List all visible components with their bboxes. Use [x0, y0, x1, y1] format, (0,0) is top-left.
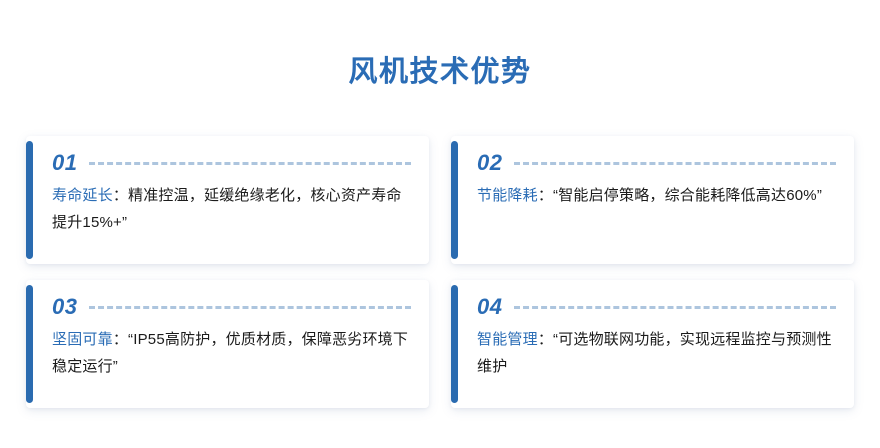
- card-header: 03: [52, 294, 413, 320]
- dashed-divider-icon: [89, 306, 411, 309]
- card-number: 03: [52, 294, 77, 320]
- card-number: 01: [52, 150, 77, 176]
- card-accent-bar: [451, 285, 458, 403]
- card-header: 01: [52, 150, 413, 176]
- card-number: 02: [477, 150, 502, 176]
- card-number: 04: [477, 294, 502, 320]
- card-header: 02: [477, 150, 838, 176]
- card-separator: ：: [538, 331, 553, 348]
- card-accent-bar: [26, 285, 33, 403]
- advantage-card: 03 坚固可靠：“IP55高防护，优质材质，保障恶劣环境下稳定运行”: [26, 280, 429, 408]
- card-description: “智能启停策略，综合能耗降低高达60%”: [553, 187, 822, 204]
- card-label: 节能降耗: [477, 187, 538, 204]
- page-title: 风机技术优势: [0, 52, 880, 92]
- advantages-page: 风机技术优势 01 寿命延长：精准控温，延缓绝缘老化，核心资产寿命提升15%+”…: [0, 0, 880, 448]
- card-separator: ：: [538, 187, 553, 204]
- card-accent-bar: [26, 141, 33, 259]
- card-separator: ：: [113, 331, 128, 348]
- advantage-card: 04 智能管理：“可选物联网功能，实现远程监控与预测性维护: [451, 280, 854, 408]
- card-label: 寿命延长: [52, 187, 113, 204]
- advantage-cards-grid: 01 寿命延长：精准控温，延缓绝缘老化，核心资产寿命提升15%+” 02 节能降…: [26, 136, 854, 408]
- card-header: 04: [477, 294, 838, 320]
- card-label: 坚固可靠: [52, 331, 113, 348]
- card-body: 坚固可靠：“IP55高防护，优质材质，保障恶劣环境下稳定运行”: [52, 326, 413, 380]
- card-body: 节能降耗：“智能启停策略，综合能耗降低高达60%”: [477, 182, 838, 209]
- dashed-divider-icon: [514, 162, 836, 165]
- dashed-divider-icon: [89, 162, 411, 165]
- card-label: 智能管理: [477, 331, 538, 348]
- card-separator: ：: [113, 187, 128, 204]
- advantage-card: 02 节能降耗：“智能启停策略，综合能耗降低高达60%”: [451, 136, 854, 264]
- card-accent-bar: [451, 141, 458, 259]
- dashed-divider-icon: [514, 306, 836, 309]
- card-body: 智能管理：“可选物联网功能，实现远程监控与预测性维护: [477, 326, 838, 380]
- card-body: 寿命延长：精准控温，延缓绝缘老化，核心资产寿命提升15%+”: [52, 182, 413, 236]
- advantage-card: 01 寿命延长：精准控温，延缓绝缘老化，核心资产寿命提升15%+”: [26, 136, 429, 264]
